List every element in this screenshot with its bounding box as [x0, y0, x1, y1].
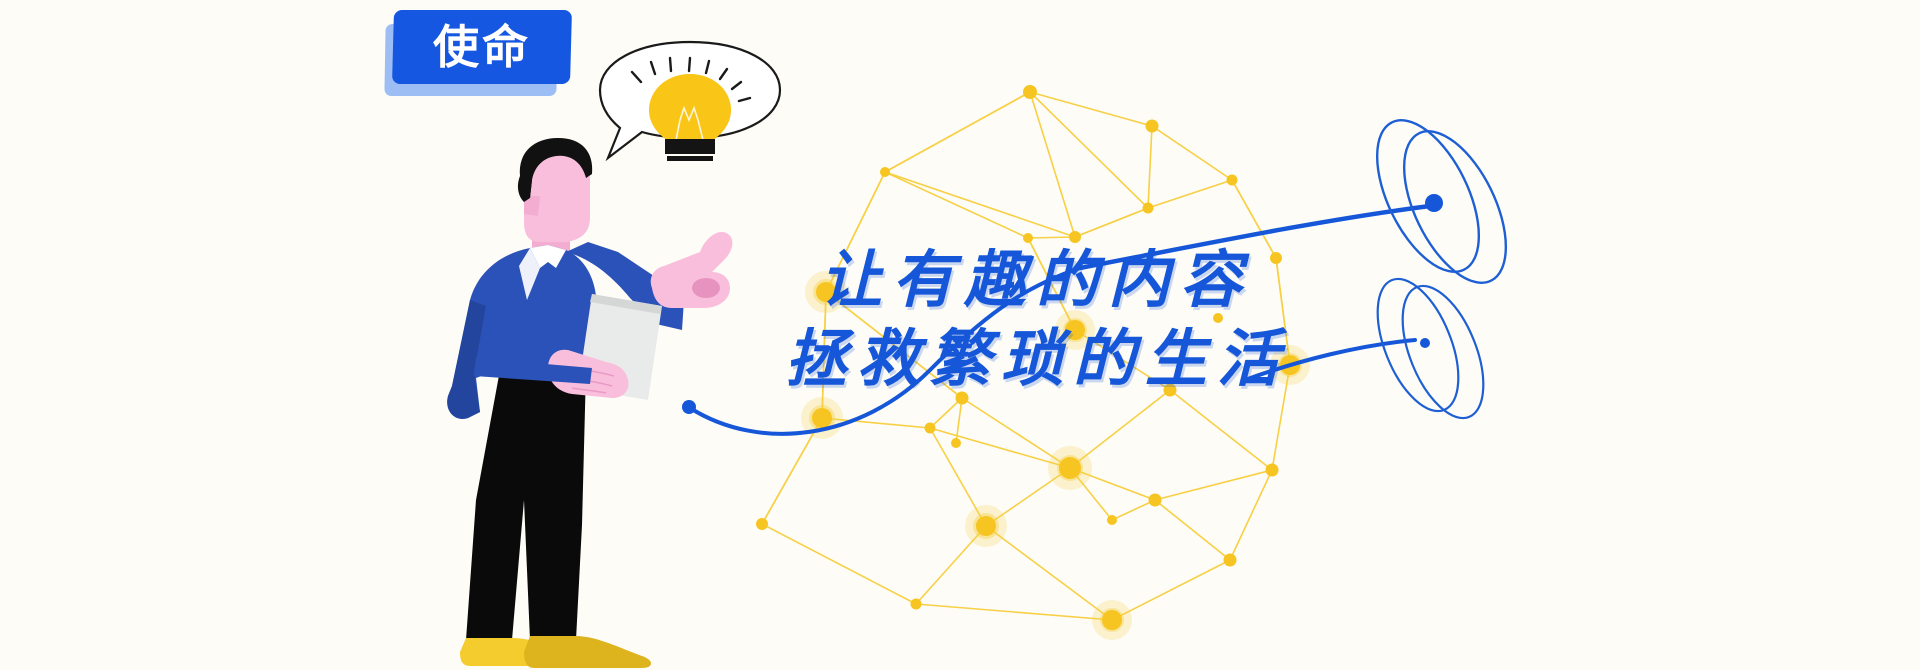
mission-badge: 使命 — [0, 0, 1920, 670]
badge-box: 使命 — [392, 10, 572, 84]
mission-banner: 让有趣的内容 拯救繁琐的生活 — [0, 0, 1920, 670]
badge-label: 使命 — [433, 24, 531, 70]
